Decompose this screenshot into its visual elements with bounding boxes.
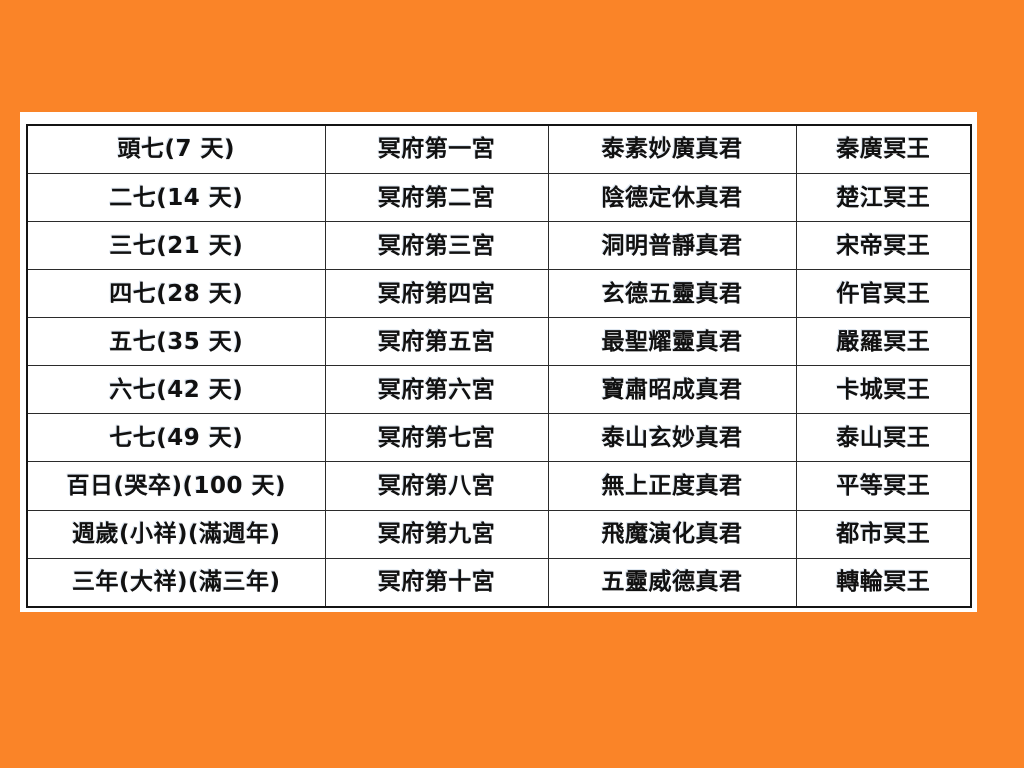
mourning-rites-table: 頭七(7 天)冥府第一宮泰素妙廣真君秦廣冥王二七(14 天)冥府第二宮陰德定休真… [26, 124, 972, 608]
cell-deity: 最聖耀靈真君 [548, 318, 796, 366]
cell-deity: 泰山玄妙真君 [548, 414, 796, 462]
cell-palace: 冥府第一宮 [325, 125, 548, 174]
table-row: 週歲(小祥)(滿週年)冥府第九宮飛魔演化真君都市冥王 [27, 510, 971, 558]
cell-king: 仵官冥王 [796, 270, 971, 318]
table-row: 五七(35 天)冥府第五宮最聖耀靈真君嚴羅冥王 [27, 318, 971, 366]
cell-deity: 五靈威德真君 [548, 558, 796, 607]
table-row: 三七(21 天)冥府第三宮洞明普靜真君宋帝冥王 [27, 222, 971, 270]
cell-period: 百日(哭卒)(100 天) [27, 462, 325, 510]
table-row: 頭七(7 天)冥府第一宮泰素妙廣真君秦廣冥王 [27, 125, 971, 174]
cell-palace: 冥府第七宮 [325, 414, 548, 462]
cell-deity: 無上正度真君 [548, 462, 796, 510]
cell-period: 五七(35 天) [27, 318, 325, 366]
cell-deity: 洞明普靜真君 [548, 222, 796, 270]
table-row: 七七(49 天)冥府第七宮泰山玄妙真君泰山冥王 [27, 414, 971, 462]
cell-palace: 冥府第四宮 [325, 270, 548, 318]
cell-palace: 冥府第十宮 [325, 558, 548, 607]
table-container: 頭七(7 天)冥府第一宮泰素妙廣真君秦廣冥王二七(14 天)冥府第二宮陰德定休真… [26, 124, 970, 608]
cell-deity: 玄德五靈真君 [548, 270, 796, 318]
cell-palace: 冥府第五宮 [325, 318, 548, 366]
cell-deity: 陰德定休真君 [548, 174, 796, 222]
cell-palace: 冥府第三宮 [325, 222, 548, 270]
cell-period: 週歲(小祥)(滿週年) [27, 510, 325, 558]
cell-palace: 冥府第九宮 [325, 510, 548, 558]
cell-deity: 寶肅昭成真君 [548, 366, 796, 414]
cell-period: 三七(21 天) [27, 222, 325, 270]
table-row: 六七(42 天)冥府第六宮寶肅昭成真君卡城冥王 [27, 366, 971, 414]
cell-deity: 飛魔演化真君 [548, 510, 796, 558]
cell-king: 轉輪冥王 [796, 558, 971, 607]
cell-king: 平等冥王 [796, 462, 971, 510]
cell-period: 二七(14 天) [27, 174, 325, 222]
cell-period: 六七(42 天) [27, 366, 325, 414]
slide-canvas: 頭七(7 天)冥府第一宮泰素妙廣真君秦廣冥王二七(14 天)冥府第二宮陰德定休真… [0, 0, 1024, 768]
cell-king: 楚江冥王 [796, 174, 971, 222]
cell-king: 都市冥王 [796, 510, 971, 558]
table-body: 頭七(7 天)冥府第一宮泰素妙廣真君秦廣冥王二七(14 天)冥府第二宮陰德定休真… [27, 125, 971, 607]
cell-palace: 冥府第六宮 [325, 366, 548, 414]
cell-period: 三年(大祥)(滿三年) [27, 558, 325, 607]
cell-king: 嚴羅冥王 [796, 318, 971, 366]
cell-palace: 冥府第八宮 [325, 462, 548, 510]
table-row: 二七(14 天)冥府第二宮陰德定休真君楚江冥王 [27, 174, 971, 222]
cell-palace: 冥府第二宮 [325, 174, 548, 222]
cell-king: 泰山冥王 [796, 414, 971, 462]
table-row: 四七(28 天)冥府第四宮玄德五靈真君仵官冥王 [27, 270, 971, 318]
cell-king: 宋帝冥王 [796, 222, 971, 270]
cell-king: 秦廣冥王 [796, 125, 971, 174]
cell-period: 四七(28 天) [27, 270, 325, 318]
cell-deity: 泰素妙廣真君 [548, 125, 796, 174]
cell-period: 七七(49 天) [27, 414, 325, 462]
table-row: 百日(哭卒)(100 天)冥府第八宮無上正度真君平等冥王 [27, 462, 971, 510]
table-row: 三年(大祥)(滿三年)冥府第十宮五靈威德真君轉輪冥王 [27, 558, 971, 607]
cell-period: 頭七(7 天) [27, 125, 325, 174]
cell-king: 卡城冥王 [796, 366, 971, 414]
